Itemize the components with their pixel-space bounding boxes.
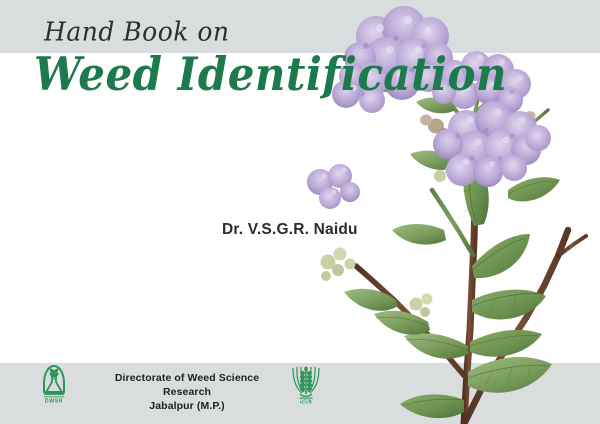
publisher-block: Directorate of Weed Science Research Jab… <box>92 371 282 414</box>
plant-photo <box>268 0 600 424</box>
dwsr-logo-icon: DWSR <box>38 362 70 404</box>
svg-text:DWSR: DWSR <box>45 399 63 405</box>
publisher-line-1: Directorate of Weed Science Research <box>92 371 282 399</box>
book-cover: Hand Book on Weed Identification Dr. V.S… <box>0 0 600 424</box>
icar-logo-icon: भाकृअनुप ICAR <box>290 364 322 404</box>
publisher-line-2: Jabalpur (M.P.) <box>92 399 282 413</box>
icar-logo-text: ICAR <box>300 399 313 404</box>
author-name: Dr. V.S.G.R. Naidu <box>222 221 358 239</box>
